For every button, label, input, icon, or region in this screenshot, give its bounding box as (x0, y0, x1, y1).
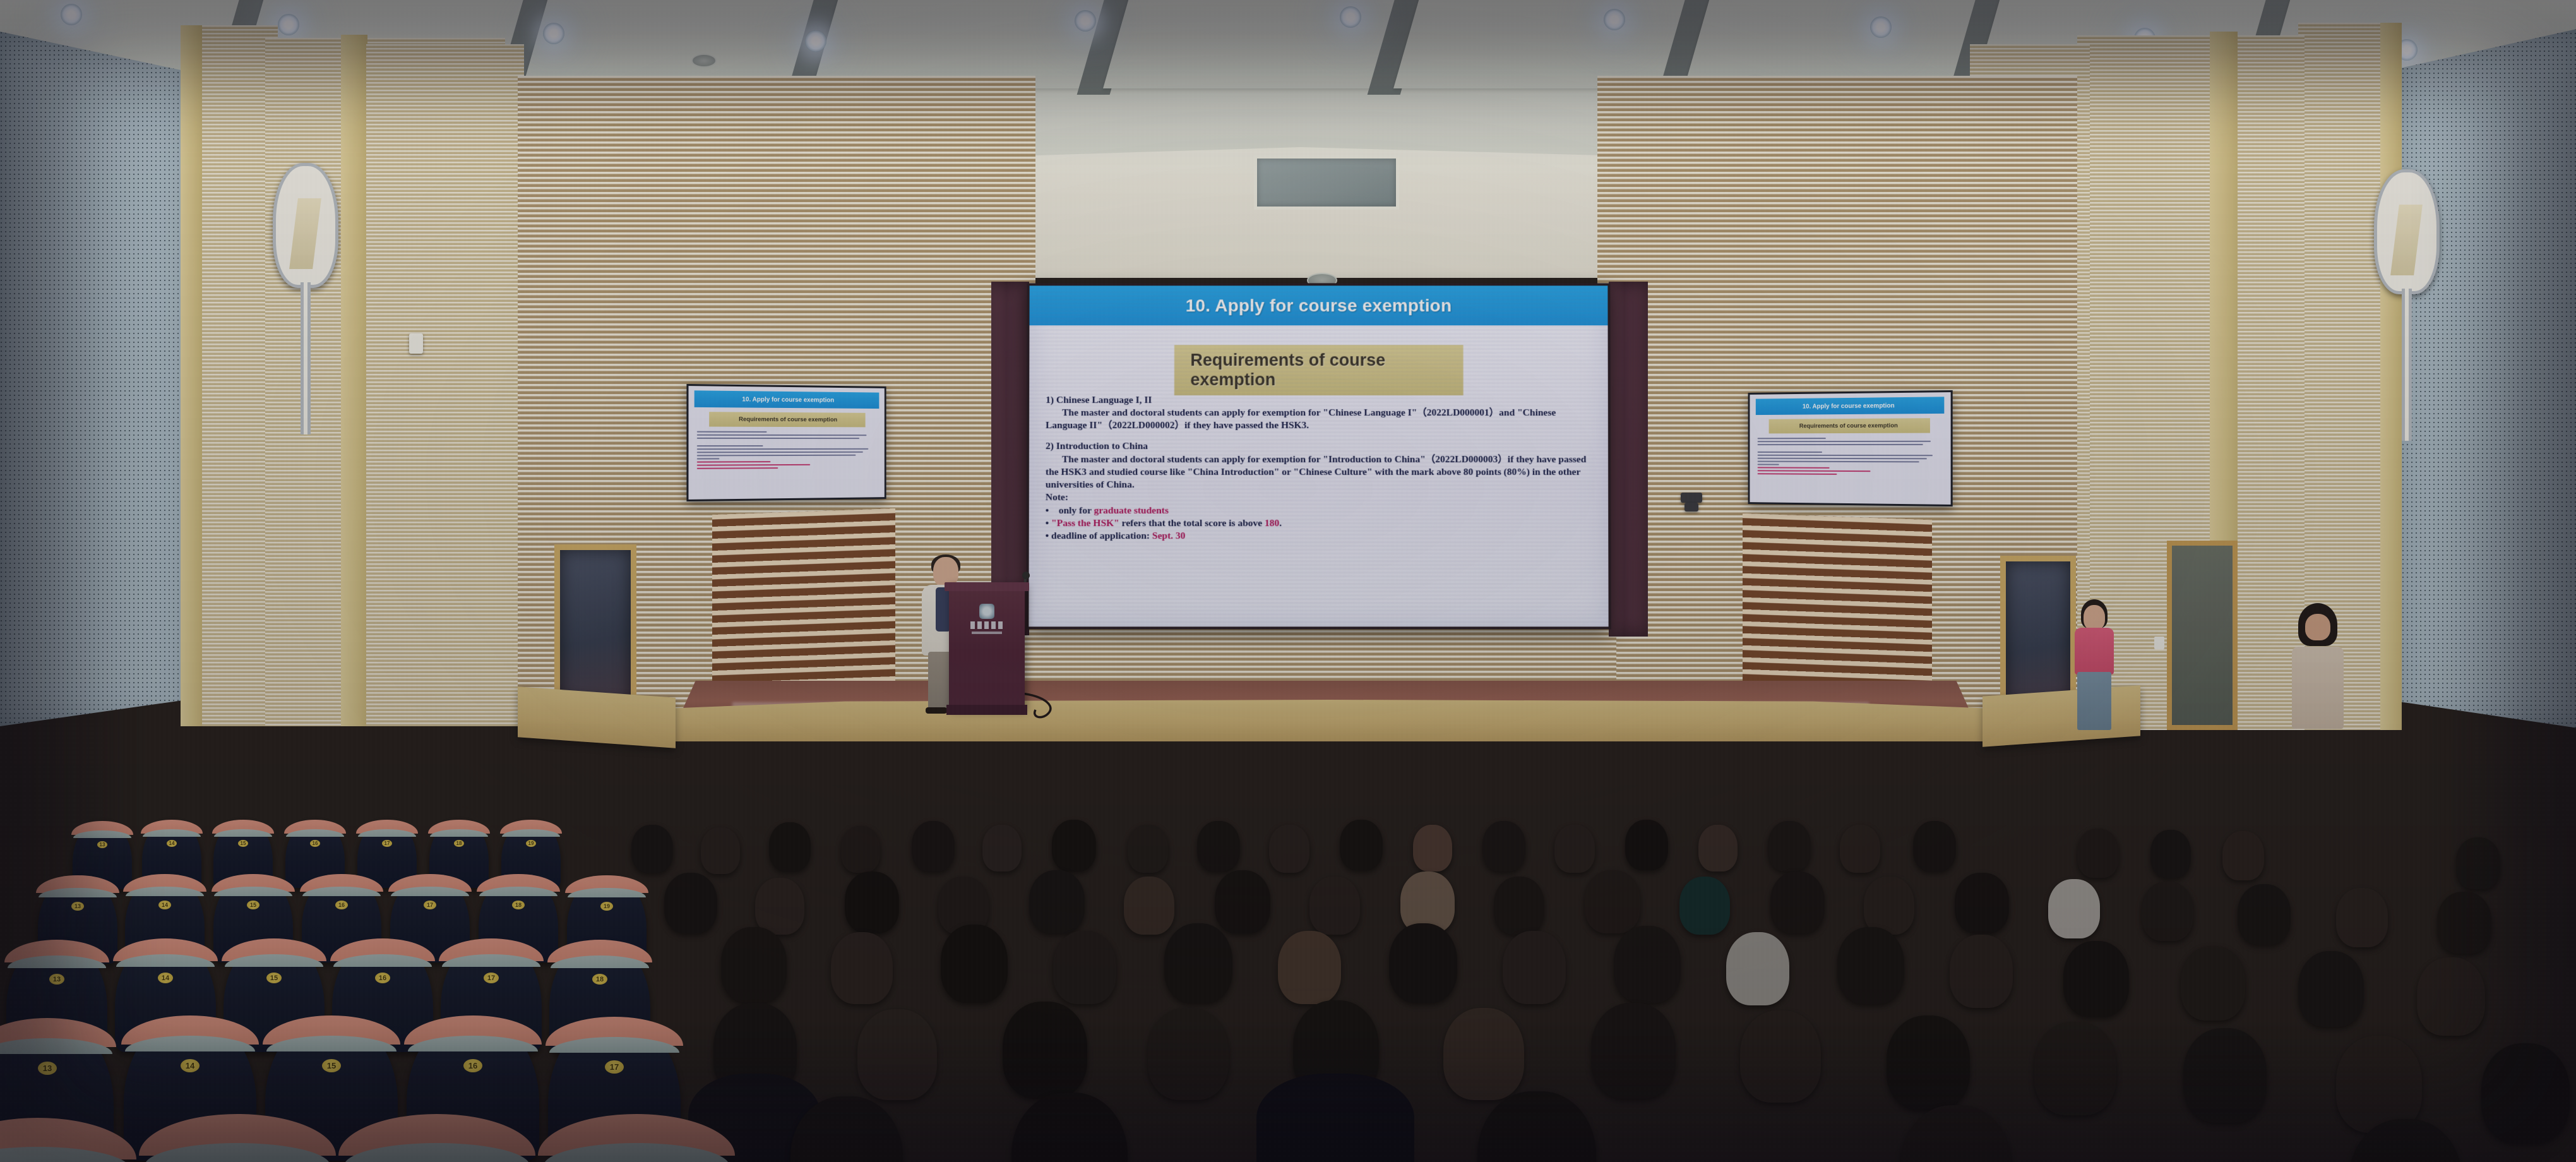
sconce-stem (2402, 289, 2412, 441)
slide-note-label: Note: (1046, 491, 1595, 504)
audience-head (2077, 829, 2119, 878)
ceiling-downlight (805, 30, 826, 52)
audience-head (2238, 884, 2291, 945)
person-jacket (2075, 628, 2114, 674)
audience-head (1614, 926, 1681, 1003)
monitor-left-body-lines (696, 431, 876, 471)
monitor-right-title-bar: 10. Apply for course exemption (1756, 397, 1945, 415)
audience-head (1740, 1010, 1821, 1103)
audience-head (1477, 1091, 1596, 1162)
stage-curtain-right (1609, 282, 1648, 637)
audience-head (1482, 821, 1525, 871)
podium (949, 582, 1025, 709)
audience-head (941, 925, 1008, 1003)
audience-head (1053, 931, 1116, 1004)
audience-head (1698, 825, 1738, 871)
audience-head (1770, 871, 1825, 933)
person-head (2084, 605, 2105, 630)
audience-head (1679, 877, 1730, 935)
wall-pillar-left-2 (341, 35, 367, 726)
ceiling-downlight (543, 23, 564, 44)
slide-note-3: • deadline of application: Sept. 30 (1046, 530, 1596, 542)
audience-head (1591, 1003, 1676, 1099)
audience-head (1913, 821, 1956, 871)
audience-head (1955, 873, 2009, 933)
ceiling-speaker-icon (691, 54, 717, 68)
audience-head (1340, 820, 1383, 870)
audience-head (1585, 870, 1640, 933)
wall-left-inner (366, 44, 524, 726)
audience-head (769, 822, 811, 871)
audience-head (2298, 951, 2364, 1027)
podium-name-plaque (970, 621, 1003, 629)
audience-head (721, 927, 787, 1003)
audience-shoulders (1256, 1074, 1414, 1162)
audience-head (2142, 882, 2193, 941)
monitor-right-title: 10. Apply for course exemption (1803, 402, 1895, 410)
audience-head (1837, 927, 1904, 1004)
audience-head (1389, 923, 1457, 1003)
audience-head (841, 826, 880, 873)
projection-screen: 10. Apply for course exemption Requireme… (1026, 283, 1611, 629)
monitor-right-screen: 10. Apply for course exemption Requireme… (1750, 392, 1950, 505)
podium-top (945, 582, 1029, 591)
audience-head (1726, 932, 1789, 1005)
ceiling-downlight (1604, 9, 1625, 30)
ceiling-downlight (1340, 6, 1361, 28)
audience-head (2222, 831, 2264, 880)
audience-head (1278, 931, 1341, 1004)
audience-head (912, 821, 955, 871)
auditorium-photo: 10. Apply for course exemption Requireme… (0, 0, 2576, 1162)
slide-title: 10. Apply for course exemption (1186, 296, 1452, 316)
monitor-right-body-lines (1758, 437, 1943, 477)
light-switch-right[interactable] (2154, 637, 2164, 649)
audience-head (2150, 830, 2191, 878)
audience-head (1768, 821, 1811, 871)
monitor-left-subtitle: Requirements of course exemption (739, 416, 837, 424)
monitor-left-subtitle-box: Requirements of course exemption (709, 412, 866, 428)
audience-head (1269, 825, 1309, 873)
slide-section-heading-2: 2) Introduction to China (1046, 440, 1595, 453)
monitor-right-subtitle: Requirements of course exemption (1799, 422, 1898, 429)
audience-head (701, 827, 740, 874)
audience-head (1554, 825, 1595, 873)
audience-head (1003, 1002, 1087, 1099)
slide-note-2: • "Pass the HSK" refers that the total s… (1046, 517, 1596, 530)
audience-head (2417, 957, 2485, 1036)
wall-camera-mount-right (1685, 503, 1698, 512)
audience-head (1215, 870, 1270, 933)
ceiling-downlight (61, 4, 82, 25)
wall-left-ribbed (189, 25, 278, 726)
audience-head (982, 825, 1022, 871)
wall-sconce-right (2374, 169, 2440, 441)
audience-head (1164, 923, 1232, 1003)
audience-head (2063, 941, 2129, 1017)
audience-head (1625, 820, 1668, 870)
proscenium-vent-panel (1254, 155, 1399, 210)
audience-head (831, 932, 893, 1004)
slide-section-para-1: The master and doctoral students can app… (1046, 407, 1595, 432)
audience-head (2181, 946, 2245, 1021)
audience-head (1443, 1008, 1524, 1100)
audience-head (857, 1009, 937, 1100)
university-emblem-icon (979, 604, 994, 619)
audience-head (845, 871, 899, 933)
audience-head (1011, 1093, 1128, 1162)
audience-head (2034, 1022, 2116, 1115)
audience-head (1864, 877, 1914, 935)
podium-name-plaque-sub (972, 632, 1002, 634)
audience-head (2456, 837, 2500, 889)
wood-slat-panel-left (712, 508, 895, 710)
monitor-left: 10. Apply for course exemption Requireme… (686, 384, 886, 501)
acoustic-panel-left (0, 32, 196, 726)
audience-head (1950, 935, 2013, 1008)
ceiling-downlight (1870, 16, 1892, 38)
audience-head (2437, 892, 2491, 954)
audience-head (2183, 1028, 2267, 1123)
slide-notes-list: • only for graduate students • "Pass the… (1046, 505, 1596, 542)
audience-head (1900, 1105, 2012, 1162)
monitor-left-title: 10. Apply for course exemption (742, 396, 834, 404)
audience-head (1413, 825, 1452, 871)
monitor-left-screen: 10. Apply for course exemption Requireme… (688, 386, 884, 500)
ceiling-downlight (278, 14, 299, 35)
person-head (2305, 614, 2330, 640)
slide-section-heading-1: 1) Chinese Language I, II (1046, 394, 1595, 407)
audience-head (1197, 821, 1240, 871)
monitor-right: 10. Apply for course exemption Requireme… (1748, 390, 1953, 506)
slide-subtitle: Requirements of course exemption (1190, 350, 1385, 389)
audience-head (1309, 877, 1360, 935)
audience-head (1148, 1008, 1229, 1100)
audience-head (755, 878, 804, 935)
slide-note-1: • only for graduate students (1046, 505, 1595, 517)
audience-head (664, 873, 717, 933)
ceiling-downlight (1075, 10, 1096, 32)
audience-head (1128, 825, 1168, 873)
audience-head (631, 825, 673, 873)
audience-head (1029, 870, 1085, 933)
audience-head (1887, 1015, 1970, 1110)
audience-head (2048, 879, 2100, 938)
wall-sensor-left (409, 333, 423, 354)
slide-subtitle-box: Requirements of course exemption (1174, 345, 1463, 395)
audience-head (2481, 1043, 2570, 1143)
audience-seating: 13 14 15 16 17 18 19 13 14 15 16 (0, 695, 2576, 1162)
slide-title-bar: 10. Apply for course exemption (1029, 285, 1607, 325)
audience-head (1503, 931, 1566, 1004)
slide-body: 1) Chinese Language I, II The master and… (1046, 394, 1596, 543)
wall-sconce-left (273, 163, 338, 434)
sconce-stem (301, 282, 311, 434)
audience-head (1124, 877, 1174, 935)
audience-head (1494, 877, 1544, 935)
monitor-right-subtitle-box: Requirements of course exemption (1769, 418, 1930, 433)
audience-head (2336, 888, 2388, 947)
monitor-left-title-bar: 10. Apply for course exemption (695, 390, 879, 409)
audience-head (1840, 825, 1880, 873)
audience-head (2336, 1036, 2422, 1133)
slide-section-para-2: The master and doctoral students can app… (1046, 453, 1595, 491)
slide-surface: 10. Apply for course exemption Requireme… (1029, 285, 1608, 626)
wall-pillar-left (181, 25, 202, 726)
wall-camera-right (1681, 493, 1702, 503)
audience-head (1052, 820, 1096, 871)
wood-slat-panel-right (1743, 513, 1932, 709)
